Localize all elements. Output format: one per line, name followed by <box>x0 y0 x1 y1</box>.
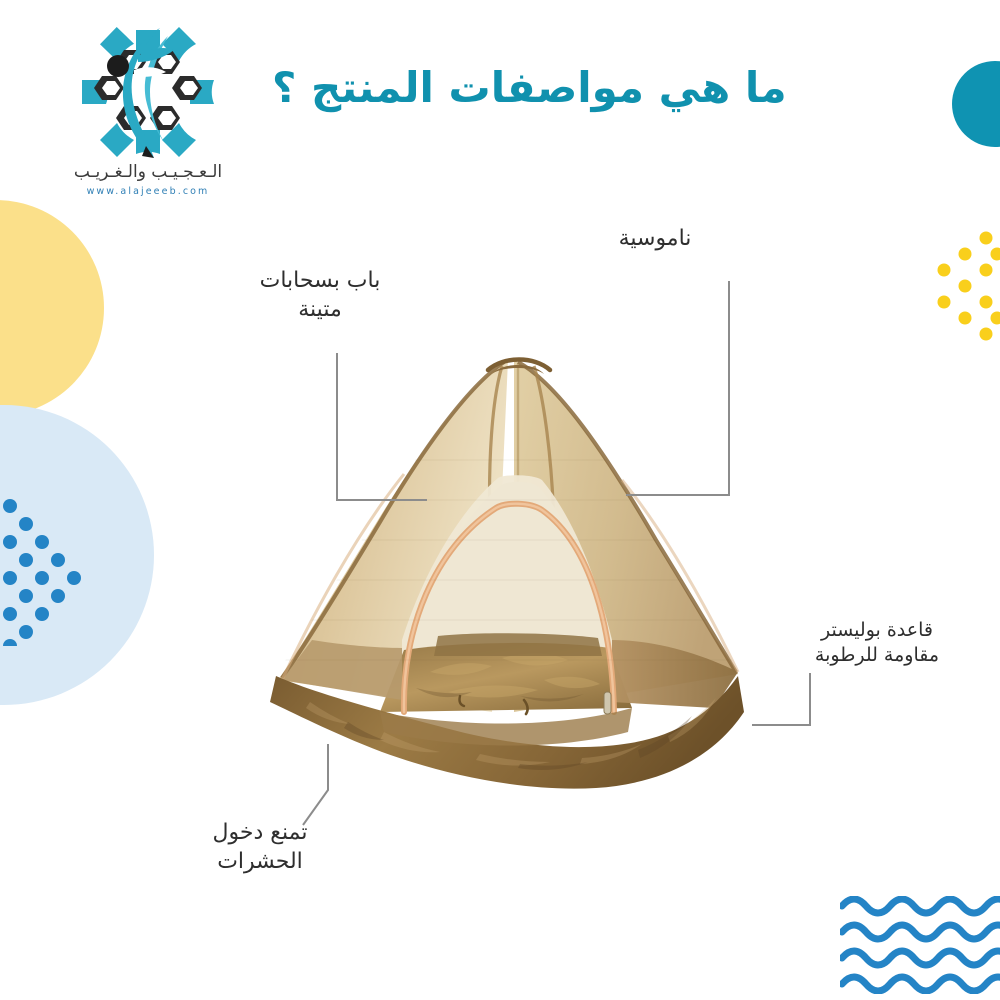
leader-line-insect-proof <box>303 744 328 825</box>
callout-label-door-zipper: باب بسحابات متينة <box>210 266 430 324</box>
leader-line-polyester-base <box>752 673 810 725</box>
callout-label-mosquito-net: ناموسية <box>540 224 770 253</box>
leader-line-mosquito-net <box>626 281 729 495</box>
infographic-canvas: الـعـجـيـب والـغـريـب www.alajeeeb.com م… <box>0 0 1000 1000</box>
callout-label-polyester-base: قاعدة بوليستر مقاومة للرطوبة <box>772 618 982 668</box>
callout-label-insect-proof: تمنع دخول الحشرات <box>150 818 370 876</box>
leader-line-door-zipper <box>337 353 427 500</box>
